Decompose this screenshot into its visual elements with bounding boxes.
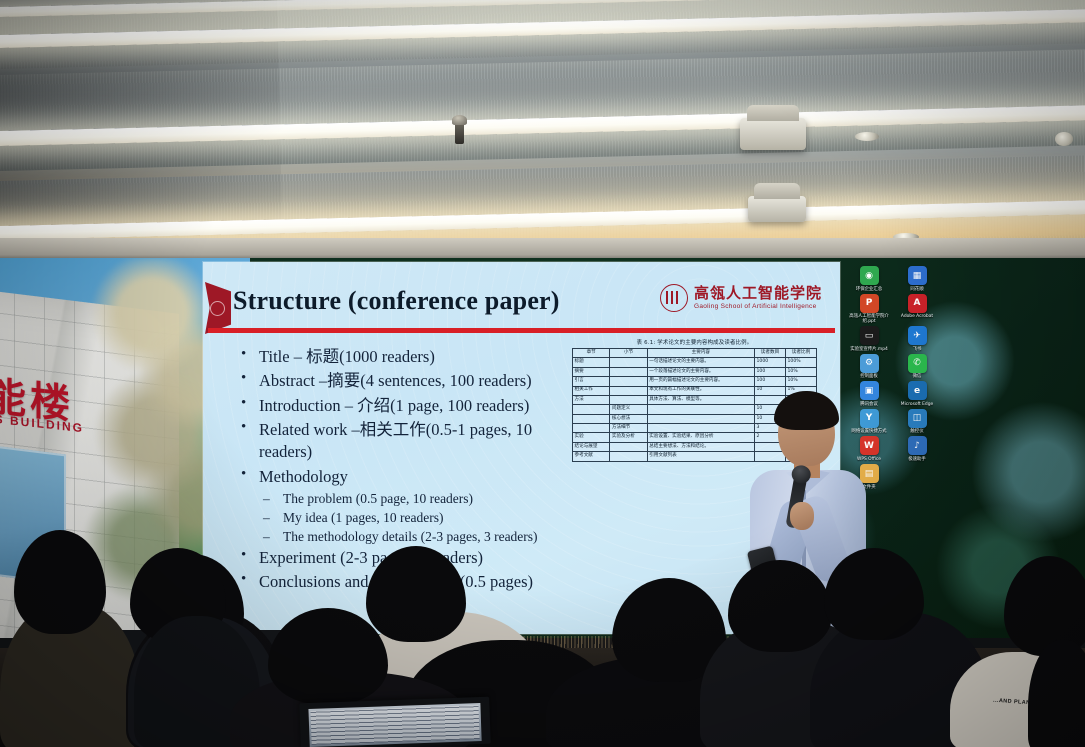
projector	[748, 196, 806, 222]
app-icon-4-label: Adobe Acrobat	[896, 314, 938, 319]
table-cell: 一句话描述论文的主要内容。	[647, 358, 754, 367]
table-cell: 1000	[754, 358, 785, 367]
table-cell: 问题定义	[610, 405, 647, 414]
app-icon-8-label: 微信	[896, 374, 938, 379]
table-header-cell: 小节	[610, 349, 647, 358]
table-row: 引言用一页的篇幅描述论文的主要内容。10010%	[573, 377, 817, 386]
table-cell: 100	[754, 377, 785, 386]
app-icon-1-label: 环保企业汇总	[848, 287, 890, 292]
title-underline	[208, 328, 835, 333]
app-icon-3[interactable]: P高瓴人工智能学院介绍.ppt	[848, 294, 890, 325]
app-icon-1-glyph: ◉	[860, 266, 879, 285]
app-icon-6-glyph: ✈	[908, 326, 927, 345]
table-cell	[573, 414, 610, 423]
bullet-item: Title – 标题(1000 readers)	[237, 346, 587, 368]
lecture-hall-photo: 能楼 CS BUILDING Structure (conference pap…	[0, 0, 1085, 747]
app-icon-4[interactable]: AAdobe Acrobat	[896, 294, 938, 325]
table-cell	[610, 377, 647, 386]
recessed-lamp	[1055, 132, 1073, 146]
table-cell	[573, 424, 610, 433]
table-cell: 方法	[573, 395, 610, 404]
table-row: 相关工作本文和现有工作的关联性。101%	[573, 386, 817, 395]
app-icon-5[interactable]: ▭实验室宣传片.mp4	[848, 326, 890, 352]
table-cell: 用一页的篇幅描述论文的主要内容。	[647, 377, 754, 386]
app-icon-12-label: 触控仪	[896, 429, 938, 434]
app-icon-2-glyph: ▦	[908, 266, 927, 285]
table-cell: 实验	[573, 433, 610, 442]
table-cell: 方法细节	[610, 424, 647, 433]
table-cell: 引言	[573, 377, 610, 386]
app-icon-4-glyph: A	[908, 294, 927, 313]
app-icon-8[interactable]: ✆微信	[896, 354, 938, 380]
table-cell	[610, 367, 647, 376]
table-header-row: 章节小节主要内容读者数目读者比例	[573, 349, 817, 358]
bullet-item: Introduction – 介绍(1 page, 100 readers)	[237, 395, 587, 417]
app-icon-3-glyph: P	[860, 294, 879, 313]
app-icon-1[interactable]: ◉环保企业汇总	[848, 266, 890, 292]
seal-icon	[210, 301, 225, 316]
logo-text-en: Gaoling School of Artificial Intelligenc…	[694, 303, 822, 310]
table-cell: 10%	[785, 367, 816, 376]
table-row: 摘要一个段落描述论文的主要内容。10010%	[573, 367, 817, 376]
table-cell: 10%	[785, 377, 816, 386]
app-icon-10-label: Microsoft Edge	[896, 402, 938, 407]
ribbon-decoration	[205, 282, 233, 334]
app-icon-7-label: 控制面板	[848, 374, 890, 379]
app-icon-14-glyph: ♪	[908, 436, 927, 455]
table-cell: 相关工作	[573, 386, 610, 395]
sub-bullet-item: My idea (1 pages, 10 readers)	[237, 509, 587, 527]
table-cell	[610, 395, 647, 404]
table-cell: 一个段落描述论文的主要内容。	[647, 367, 754, 376]
app-icon-5-glyph: ▭	[860, 326, 879, 345]
bullet-item: Abstract –摘要(4 sentences, 100 readers)	[237, 370, 587, 392]
logo-text-cn: 高瓴人工智能学院	[694, 286, 822, 302]
table-cell	[647, 424, 754, 433]
laptop-screen	[308, 703, 481, 747]
app-icon-2[interactable]: ▦同花顺	[896, 266, 938, 292]
table-cell	[610, 452, 647, 461]
table-cell: 实验及分析	[610, 433, 647, 442]
audience-laptop[interactable]	[299, 697, 491, 747]
recessed-lamp	[855, 132, 879, 141]
app-icon-7[interactable]: ⚙控制面板	[848, 354, 890, 380]
sub-bullet-item: The methodology details (2-3 pages, 3 re…	[237, 528, 587, 546]
table-cell: 引用文献列表	[647, 452, 754, 461]
table-cell	[610, 386, 647, 395]
logo-seal-icon	[660, 284, 688, 312]
app-icon-3-label: 高瓴人工智能学院介绍.ppt	[848, 314, 890, 324]
app-icon-2-label: 同花顺	[896, 287, 938, 292]
table-cell	[647, 405, 754, 414]
sub-bullet-item: The problem (0.5 page, 10 readers)	[237, 490, 587, 508]
projector	[740, 118, 806, 150]
table-cell: 10	[754, 386, 785, 395]
school-logo: 高瓴人工智能学院 Gaoling School of Artificial In…	[660, 284, 822, 312]
table-header-cell: 读者比例	[785, 349, 816, 358]
sprinkler-head	[455, 122, 464, 144]
table-cell	[610, 358, 647, 367]
table-cell	[610, 442, 647, 451]
app-icon-12-glyph: ◫	[908, 409, 927, 428]
table-header-cell: 读者数目	[754, 349, 785, 358]
table-cell: 100%	[785, 358, 816, 367]
app-icon-10-glyph: e	[908, 381, 927, 400]
ceiling	[0, 0, 1085, 252]
app-icon-6-label: 飞书	[896, 347, 938, 352]
bullet-item: Related work –相关工作(0.5-1 pages, 10 reade…	[237, 419, 587, 463]
table-cell: 实验设置、实验结果、原因分析	[647, 433, 754, 442]
presenter-hair	[774, 391, 839, 430]
app-icon-14[interactable]: ♪极速助手	[896, 436, 938, 462]
bullet-item: Methodology	[237, 466, 587, 488]
table-header-cell: 章节	[573, 349, 610, 358]
table-cell: 标题	[573, 358, 610, 367]
table-caption: 表 6.1: 学术论文的主要内容构成及读者比例。	[572, 338, 817, 346]
slide-title: Structure (conference paper)	[233, 286, 560, 316]
laptop-screen-content	[311, 705, 480, 745]
table-cell: 参考文献	[573, 452, 610, 461]
table-cell: 摘要	[573, 367, 610, 376]
table-cell: 核心想法	[610, 414, 647, 423]
table-cell	[647, 414, 754, 423]
table-cell: 结论与展望	[573, 442, 610, 451]
table-cell: 具体方法、算法、模型等。	[647, 395, 754, 404]
app-icon-14-label: 极速助手	[896, 457, 938, 462]
table-cell: 总结主要想法、方法和结论。	[647, 442, 754, 451]
table-header-cell: 主要内容	[647, 349, 754, 358]
app-icon-6[interactable]: ✈飞书	[896, 326, 938, 352]
app-icon-5-label: 实验室宣传片.mp4	[848, 347, 890, 352]
table-row: 标题一句话描述论文的主要内容。1000100%	[573, 358, 817, 367]
app-icon-12[interactable]: ◫触控仪	[896, 409, 938, 435]
table-cell	[573, 405, 610, 414]
app-icon-10[interactable]: eMicrosoft Edge	[896, 381, 938, 407]
table-cell: 100	[754, 367, 785, 376]
app-icon-7-glyph: ⚙	[860, 354, 879, 373]
presenter-right-hand	[790, 502, 814, 530]
app-icon-8-glyph: ✆	[908, 354, 927, 373]
table-cell: 本文和现有工作的关联性。	[647, 386, 754, 395]
